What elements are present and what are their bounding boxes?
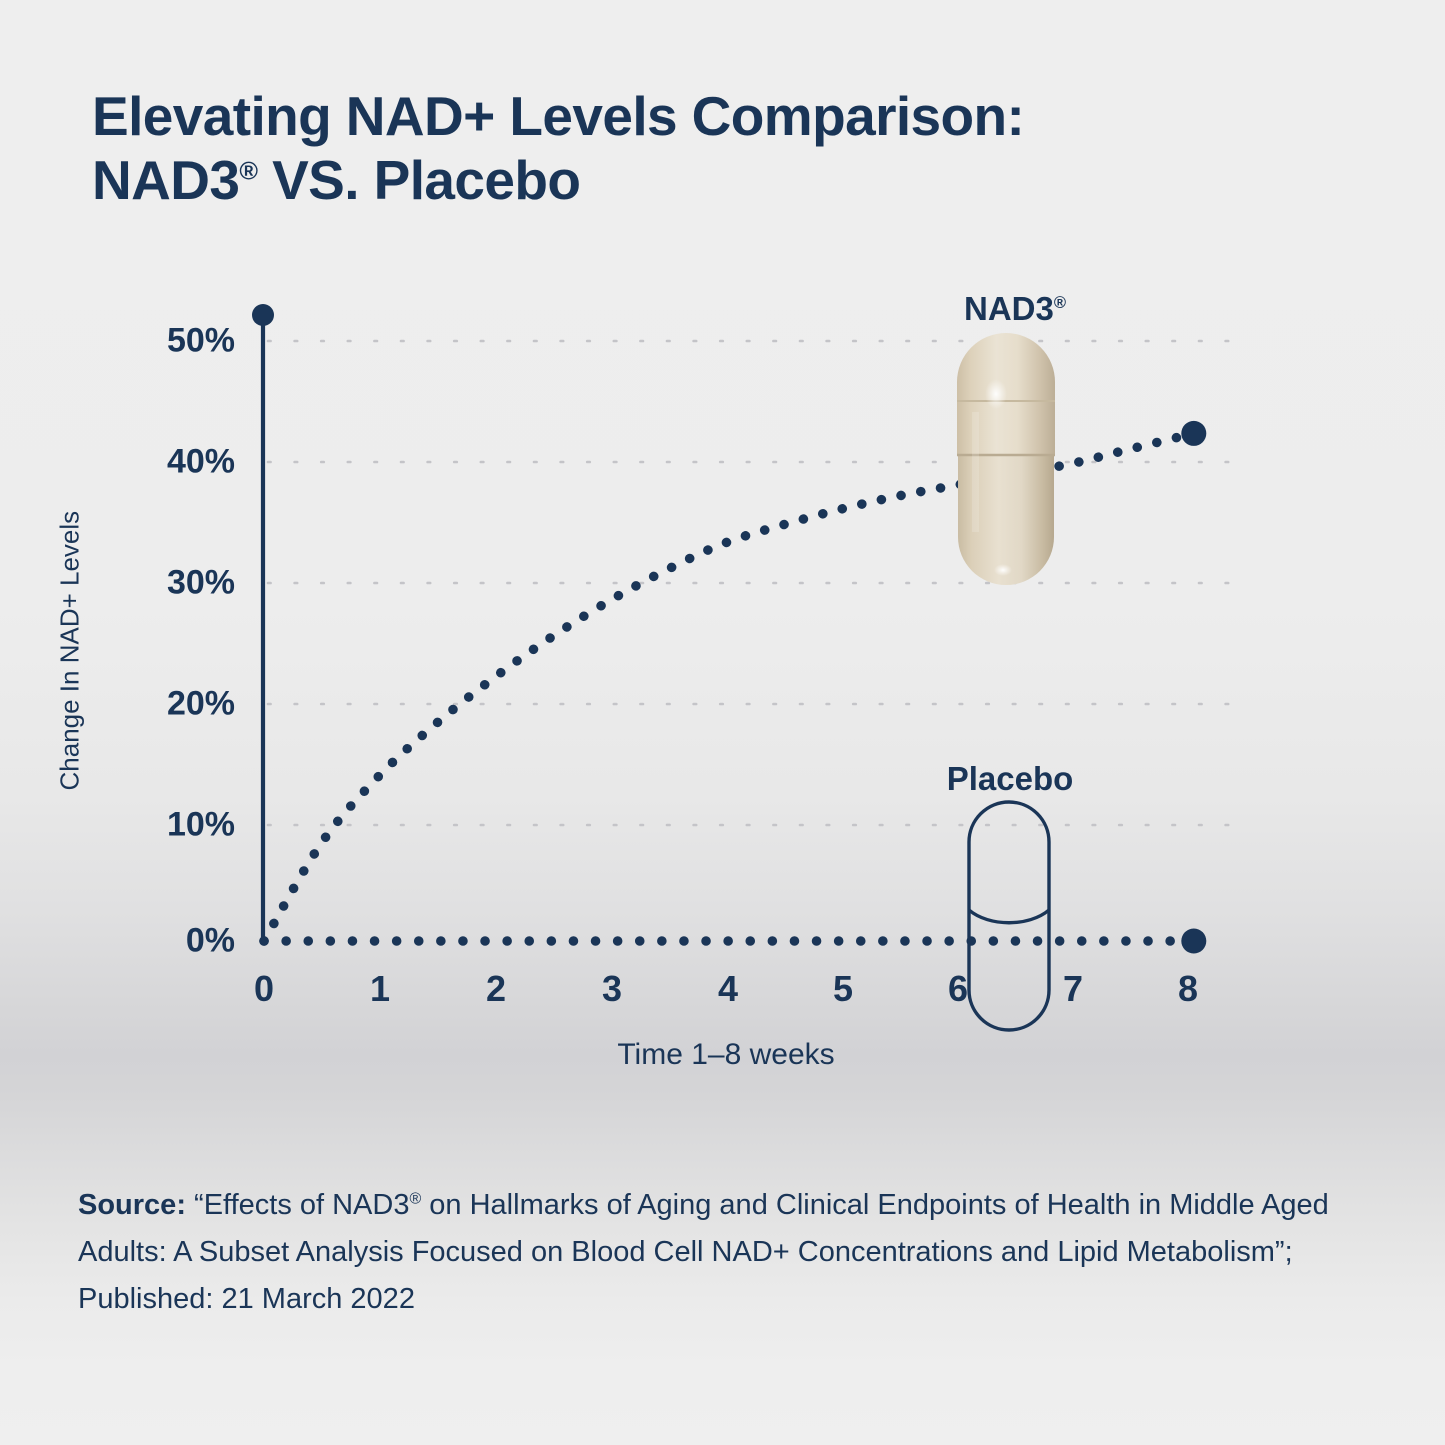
capsule-filled-icon [957,333,1055,585]
registered-mark-icon: ® [409,1190,421,1207]
series-label-placebo: Placebo [895,760,1125,798]
xtick-7: 7 [1033,968,1113,1010]
y-axis-cap-dot [252,304,274,326]
series-placebo [264,929,1206,954]
ytick-40: 40% [115,443,235,482]
y-axis-title: Change In NAD+ Levels [55,531,86,791]
xtick-2: 2 [456,968,536,1010]
xtick-8: 8 [1148,968,1228,1010]
ytick-50: 50% [115,322,235,361]
series-nad3 [264,421,1206,941]
chart-page: Elevating NAD+ Levels Comparison: NAD3® … [0,0,1445,1445]
xtick-0: 0 [224,968,304,1010]
ytick-0: 0% [115,922,235,961]
placebo-capsule-seam [969,910,1049,923]
xtick-1: 1 [340,968,420,1010]
x-axis-title: Time 1–8 weeks [264,1038,1188,1072]
registered-mark-icon: ® [1054,294,1066,312]
nad3-endpoint-marker [1181,421,1206,446]
capsule-highlight-top [985,379,1007,409]
y-axis [252,304,274,941]
capsule-specular-streak [972,412,979,532]
ytick-20: 20% [115,685,235,724]
xtick-3: 3 [572,968,652,1010]
series-label-nad3: NAD3® [900,290,1130,328]
source-note: Source: “Effects of NAD3® on Hallmarks o… [78,1182,1398,1323]
ytick-10: 10% [115,806,235,845]
xtick-6: 6 [918,968,998,1010]
ytick-30: 30% [115,564,235,603]
source-body-1: “Effects of NAD3 [186,1189,410,1221]
gridlines [268,341,1240,825]
nad3-curve [264,433,1194,941]
capsule-highlight-bottom [994,564,1012,576]
series-label-nad3-text: NAD3 [964,290,1054,327]
xtick-4: 4 [688,968,768,1010]
placebo-endpoint-marker [1181,929,1206,954]
source-prefix: Source: [78,1189,186,1221]
xtick-5: 5 [803,968,883,1010]
